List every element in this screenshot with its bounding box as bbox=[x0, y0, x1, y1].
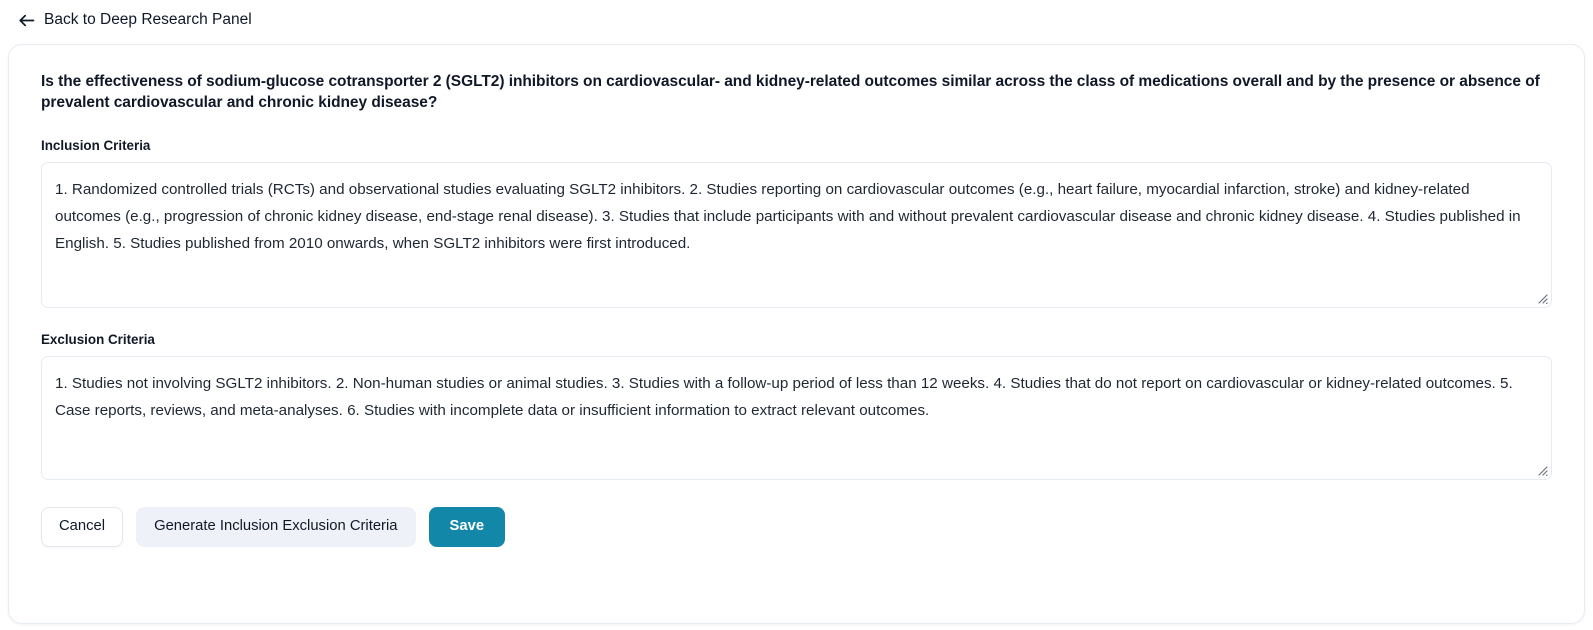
generate-inclusion-exclusion-criteria-button[interactable]: Generate Inclusion Exclusion Criteria bbox=[136, 507, 415, 547]
research-question-title: Is the effectiveness of sodium-glucose c… bbox=[41, 71, 1541, 114]
exclusion-criteria-label: Exclusion Criteria bbox=[41, 332, 1552, 347]
save-button[interactable]: Save bbox=[429, 507, 506, 547]
exclusion-criteria-input[interactable] bbox=[41, 356, 1552, 480]
back-to-deep-research-panel-link[interactable]: Back to Deep Research Panel bbox=[18, 12, 252, 29]
back-navigation-bar: Back to Deep Research Panel bbox=[0, 0, 1593, 40]
inclusion-criteria-label: Inclusion Criteria bbox=[41, 138, 1552, 153]
exclusion-criteria-field bbox=[41, 356, 1552, 480]
cancel-button[interactable]: Cancel bbox=[41, 507, 123, 547]
back-link-label: Back to Deep Research Panel bbox=[44, 12, 252, 28]
action-button-row: Cancel Generate Inclusion Exclusion Crit… bbox=[41, 507, 1552, 547]
inclusion-criteria-input[interactable] bbox=[41, 162, 1552, 308]
arrow-left-icon bbox=[18, 12, 35, 29]
criteria-editor-card: Is the effectiveness of sodium-glucose c… bbox=[8, 44, 1585, 624]
inclusion-criteria-field bbox=[41, 162, 1552, 308]
